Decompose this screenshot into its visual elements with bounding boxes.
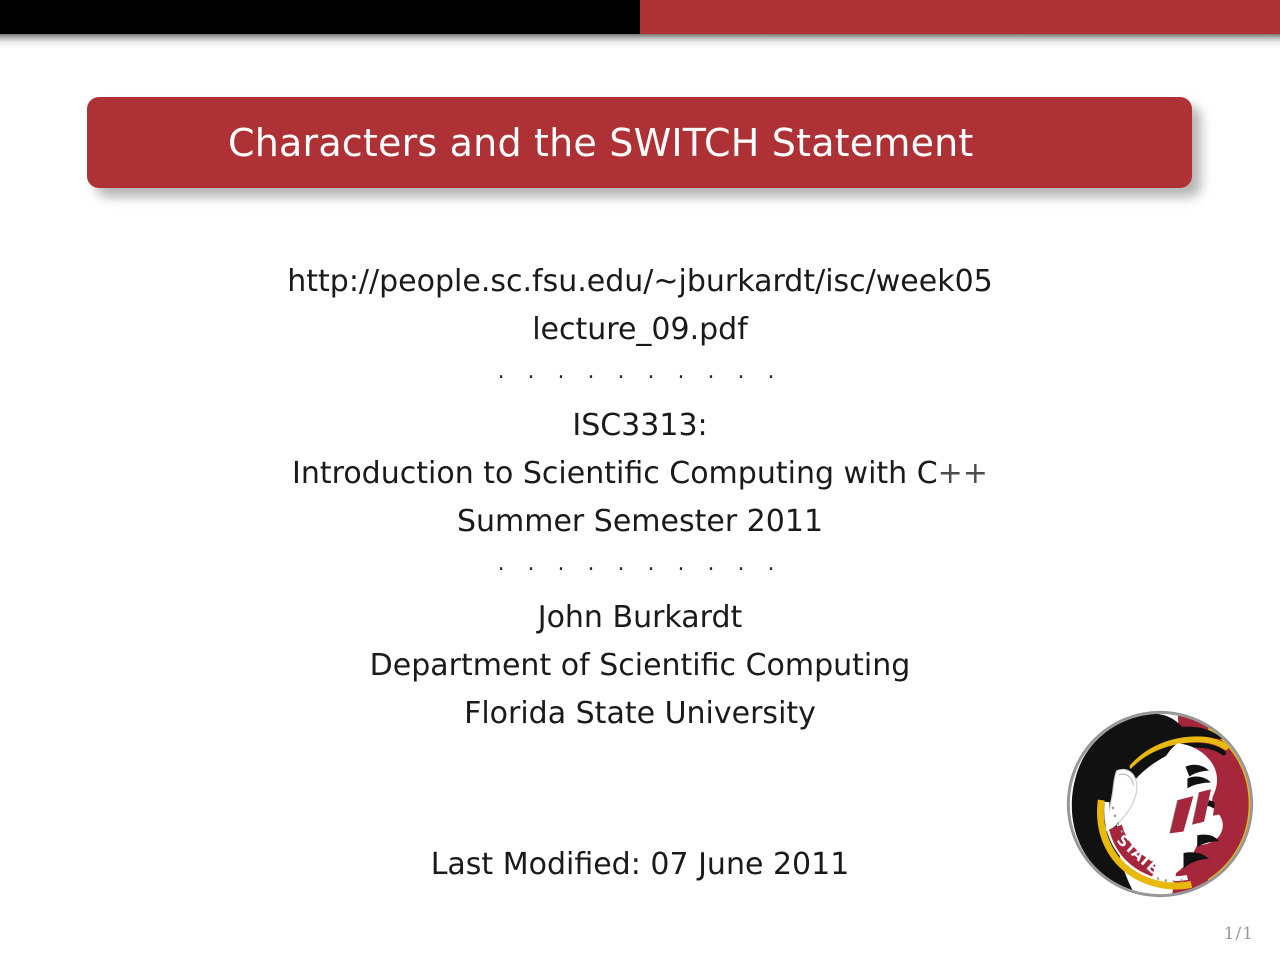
separator-dots-1-text: . . . . . . . . . .	[498, 348, 783, 396]
course-title: Introduction to Scientific Computing wit…	[0, 450, 1280, 498]
course-filename: lecture_09.pdf	[0, 306, 1280, 354]
course-code: ISC3313:	[0, 402, 1280, 450]
slide-title-plaque: Characters and the SWITCH Statement	[87, 97, 1192, 188]
course-title-prefix: Introduction to Scientific Computing wit…	[292, 456, 938, 491]
slide-title: Characters and the SWITCH Statement	[87, 124, 974, 162]
course-semester: Summer Semester 2011	[0, 498, 1280, 546]
top-bar-accent-segment	[640, 0, 1280, 34]
author-department: Department of Scientific Computing	[0, 642, 1280, 690]
separator-dots-1: . . . . . . . . . .	[0, 354, 1280, 402]
course-title-suffix: ++	[938, 456, 988, 491]
top-bar-black-segment	[0, 0, 640, 34]
top-bar-shadow	[0, 34, 1280, 48]
separator-dots-2: . . . . . . . . . .	[0, 546, 1280, 594]
page-number: 1/1	[1224, 924, 1254, 944]
title-slide-body: http://people.sc.fsu.edu/~jburkardt/isc/…	[0, 258, 1280, 738]
fsu-seminole-logo: STATE	[1062, 706, 1258, 902]
top-decorative-bar	[0, 0, 1280, 34]
separator-dots-2-text: . . . . . . . . . .	[498, 540, 783, 588]
course-url[interactable]: http://people.sc.fsu.edu/~jburkardt/isc/…	[0, 258, 1280, 306]
fsu-seminole-head-icon: STATE	[1062, 706, 1258, 902]
author-name: John Burkardt	[0, 594, 1280, 642]
